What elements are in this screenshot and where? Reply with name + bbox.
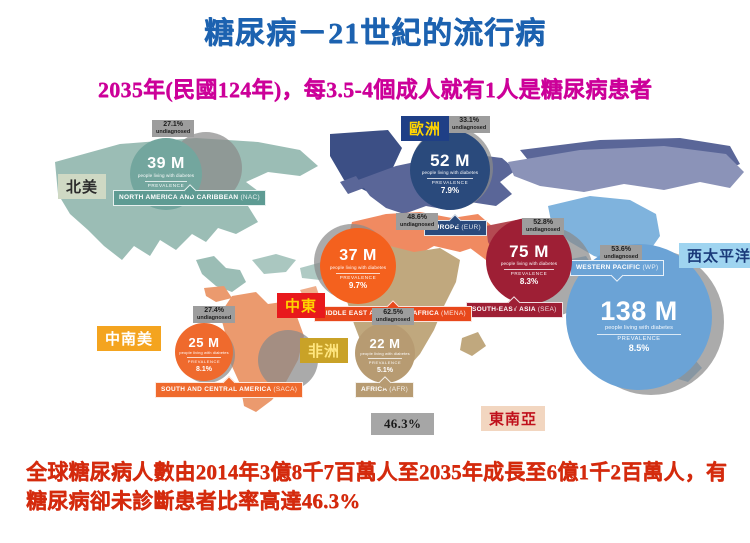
region-saca-abbr: (SACA) (273, 386, 297, 393)
region-mena-people-caption: people living with diabetes (330, 266, 386, 271)
region-saca-plaque: SOUTH AND CENTRAL AMERICA (SACA) (155, 382, 303, 398)
footer-summary-text: 全球糖尿病人數由2014年3億8千7百萬人至2035年成長至6億1千2百萬人，有… (26, 458, 730, 516)
global-undiagnosed-badge: 46.3% (371, 413, 434, 435)
region-afr-people-caption: people living with diabetes (360, 352, 409, 356)
region-wp-prevalence: 8.5% (629, 344, 650, 353)
region-sea-name: SOUTH-EAST ASIA (472, 306, 536, 313)
cn-label-africa: 非洲 (300, 338, 348, 363)
region-afr-prevalence: 5.1% (377, 367, 393, 374)
region-wp-abbr: (WP) (642, 264, 658, 271)
region-sea-value: 75 M (509, 243, 549, 261)
region-saca-prevalence: 8.1% (196, 366, 212, 373)
world-map-infographic: 138 M people living with diabetes PREVAL… (0, 110, 750, 420)
region-nac-name: NORTH AMERICA AND CARIBBEAN (119, 194, 238, 201)
region-sea-plaque: SOUTH-EAST ASIA (SEA) (466, 302, 563, 318)
region-saca-name: SOUTH AND CENTRAL AMERICA (161, 386, 271, 393)
region-afr-bubble: 22 M people living with diabetes PREVALE… (355, 323, 415, 383)
region-sea-prevalence: 8.3% (520, 278, 538, 286)
region-sea-undiagnosed-pct: 52.8% (526, 219, 560, 227)
divider (597, 334, 682, 335)
divider (187, 357, 221, 358)
region-afr-value: 22 M (370, 337, 401, 351)
region-wp-plaque: WESTERN PACIFIC (WP) (570, 260, 664, 276)
region-saca-value: 25 M (189, 336, 220, 350)
undiagnosed-label: undiagnosed (156, 129, 190, 135)
region-afr-prevalence-label: PREVALENCE (369, 361, 402, 365)
region-nac-prevalence-label: PREVALENCE (148, 184, 185, 189)
region-afr-undiagnosed-tag: 62.5% undiagnosed (372, 308, 414, 325)
region-saca-prevalence-label: PREVALENCE (188, 360, 221, 364)
undiagnosed-label: undiagnosed (526, 227, 560, 233)
region-nac-undiagnosed-pct: 27.1% (156, 121, 190, 129)
region-saca-people-caption: people living with diabetes (179, 351, 228, 355)
undiagnosed-label: undiagnosed (197, 315, 231, 321)
region-wp-people-caption: people living with diabetes (605, 326, 673, 332)
region-mena-abbr: (MENA) (441, 310, 466, 317)
region-afr-undiagnosed-pct: 62.5% (376, 309, 410, 317)
region-mena-bubble: 37 M people living with diabetes PREVALE… (320, 228, 396, 304)
region-saca-undiagnosed-tag: 27.4% undiagnosed (193, 306, 235, 323)
undiagnosed-label: undiagnosed (452, 125, 486, 131)
region-eur-people-caption: people living with diabetes (422, 171, 478, 176)
region-eur-prevalence-label: PREVALENCE (432, 181, 469, 186)
cn-label-central-south-america: 中南美 (97, 326, 161, 351)
region-saca-bubble: 25 M people living with diabetes PREVALE… (175, 323, 233, 381)
region-eur-bubble: 52 M people living with diabetes PREVALE… (410, 130, 490, 210)
region-sea-undiagnosed-tag: 52.8% undiagnosed (522, 218, 564, 235)
undiagnosed-label: undiagnosed (400, 222, 434, 228)
undiagnosed-label: undiagnosed (376, 317, 410, 323)
region-nac-abbr: (NAC) (240, 194, 260, 201)
region-saca-undiagnosed-pct: 27.4% (197, 307, 231, 315)
region-afr-abbr: (AFR) (389, 386, 408, 393)
region-afr-plaque: AFRICA (AFR) (355, 382, 414, 398)
region-sea-abbr: (SEA) (538, 306, 557, 313)
region-sea-prevalence-label: PREVALENCE (511, 272, 548, 277)
region-eur-prevalence: 7.9% (441, 187, 459, 195)
region-wp-prevalence-label: PREVALENCE (617, 337, 660, 343)
divider (504, 269, 554, 270)
cn-label-north-america: 北美 (58, 174, 106, 199)
region-mena-undiagnosed-pct: 48.6% (400, 214, 434, 222)
region-eur-undiagnosed-tag: 33.1% undiagnosed (448, 116, 490, 133)
region-wp-value: 138 M (600, 297, 678, 325)
region-nac-value: 39 M (147, 156, 185, 173)
divider (145, 181, 187, 182)
cn-label-middle-east: 中東 (277, 293, 325, 318)
region-sea-people-caption: people living with diabetes (501, 262, 557, 267)
region-wp-undiagnosed-pct: 53.6% (604, 246, 638, 254)
divider (427, 178, 473, 179)
region-eur-value: 52 M (430, 152, 470, 170)
region-nac-plaque: NORTH AMERICA AND CARIBBEAN (NAC) (113, 190, 266, 206)
region-eur-abbr: (EUR) (461, 224, 481, 231)
region-mena-prevalence: 9.7% (349, 282, 367, 290)
page-title: 糖尿病－21世紀的流行病 (0, 8, 750, 52)
cn-label-southeast-asia: 東南亞 (481, 406, 545, 431)
cn-label-western-pacific: 西太平洋 (679, 243, 750, 268)
undiagnosed-label: undiagnosed (604, 254, 638, 260)
region-mena-undiagnosed-tag: 48.6% undiagnosed (396, 213, 438, 230)
page-subtitle: 2035年(民國124年)，每3.5-4個成人就有1人是糖尿病患者 (0, 72, 750, 104)
region-eur-undiagnosed-pct: 33.1% (452, 117, 486, 125)
divider (368, 358, 403, 359)
region-mena-value: 37 M (339, 248, 377, 265)
region-mena-prevalence-label: PREVALENCE (340, 276, 377, 281)
divider (336, 273, 380, 274)
region-wp-name: WESTERN PACIFIC (576, 264, 640, 271)
cn-label-europe: 歐洲 (401, 116, 449, 141)
region-nac-undiagnosed-tag: 27.1% undiagnosed (152, 120, 194, 137)
region-nac-people-caption: people living with diabetes (138, 174, 194, 179)
